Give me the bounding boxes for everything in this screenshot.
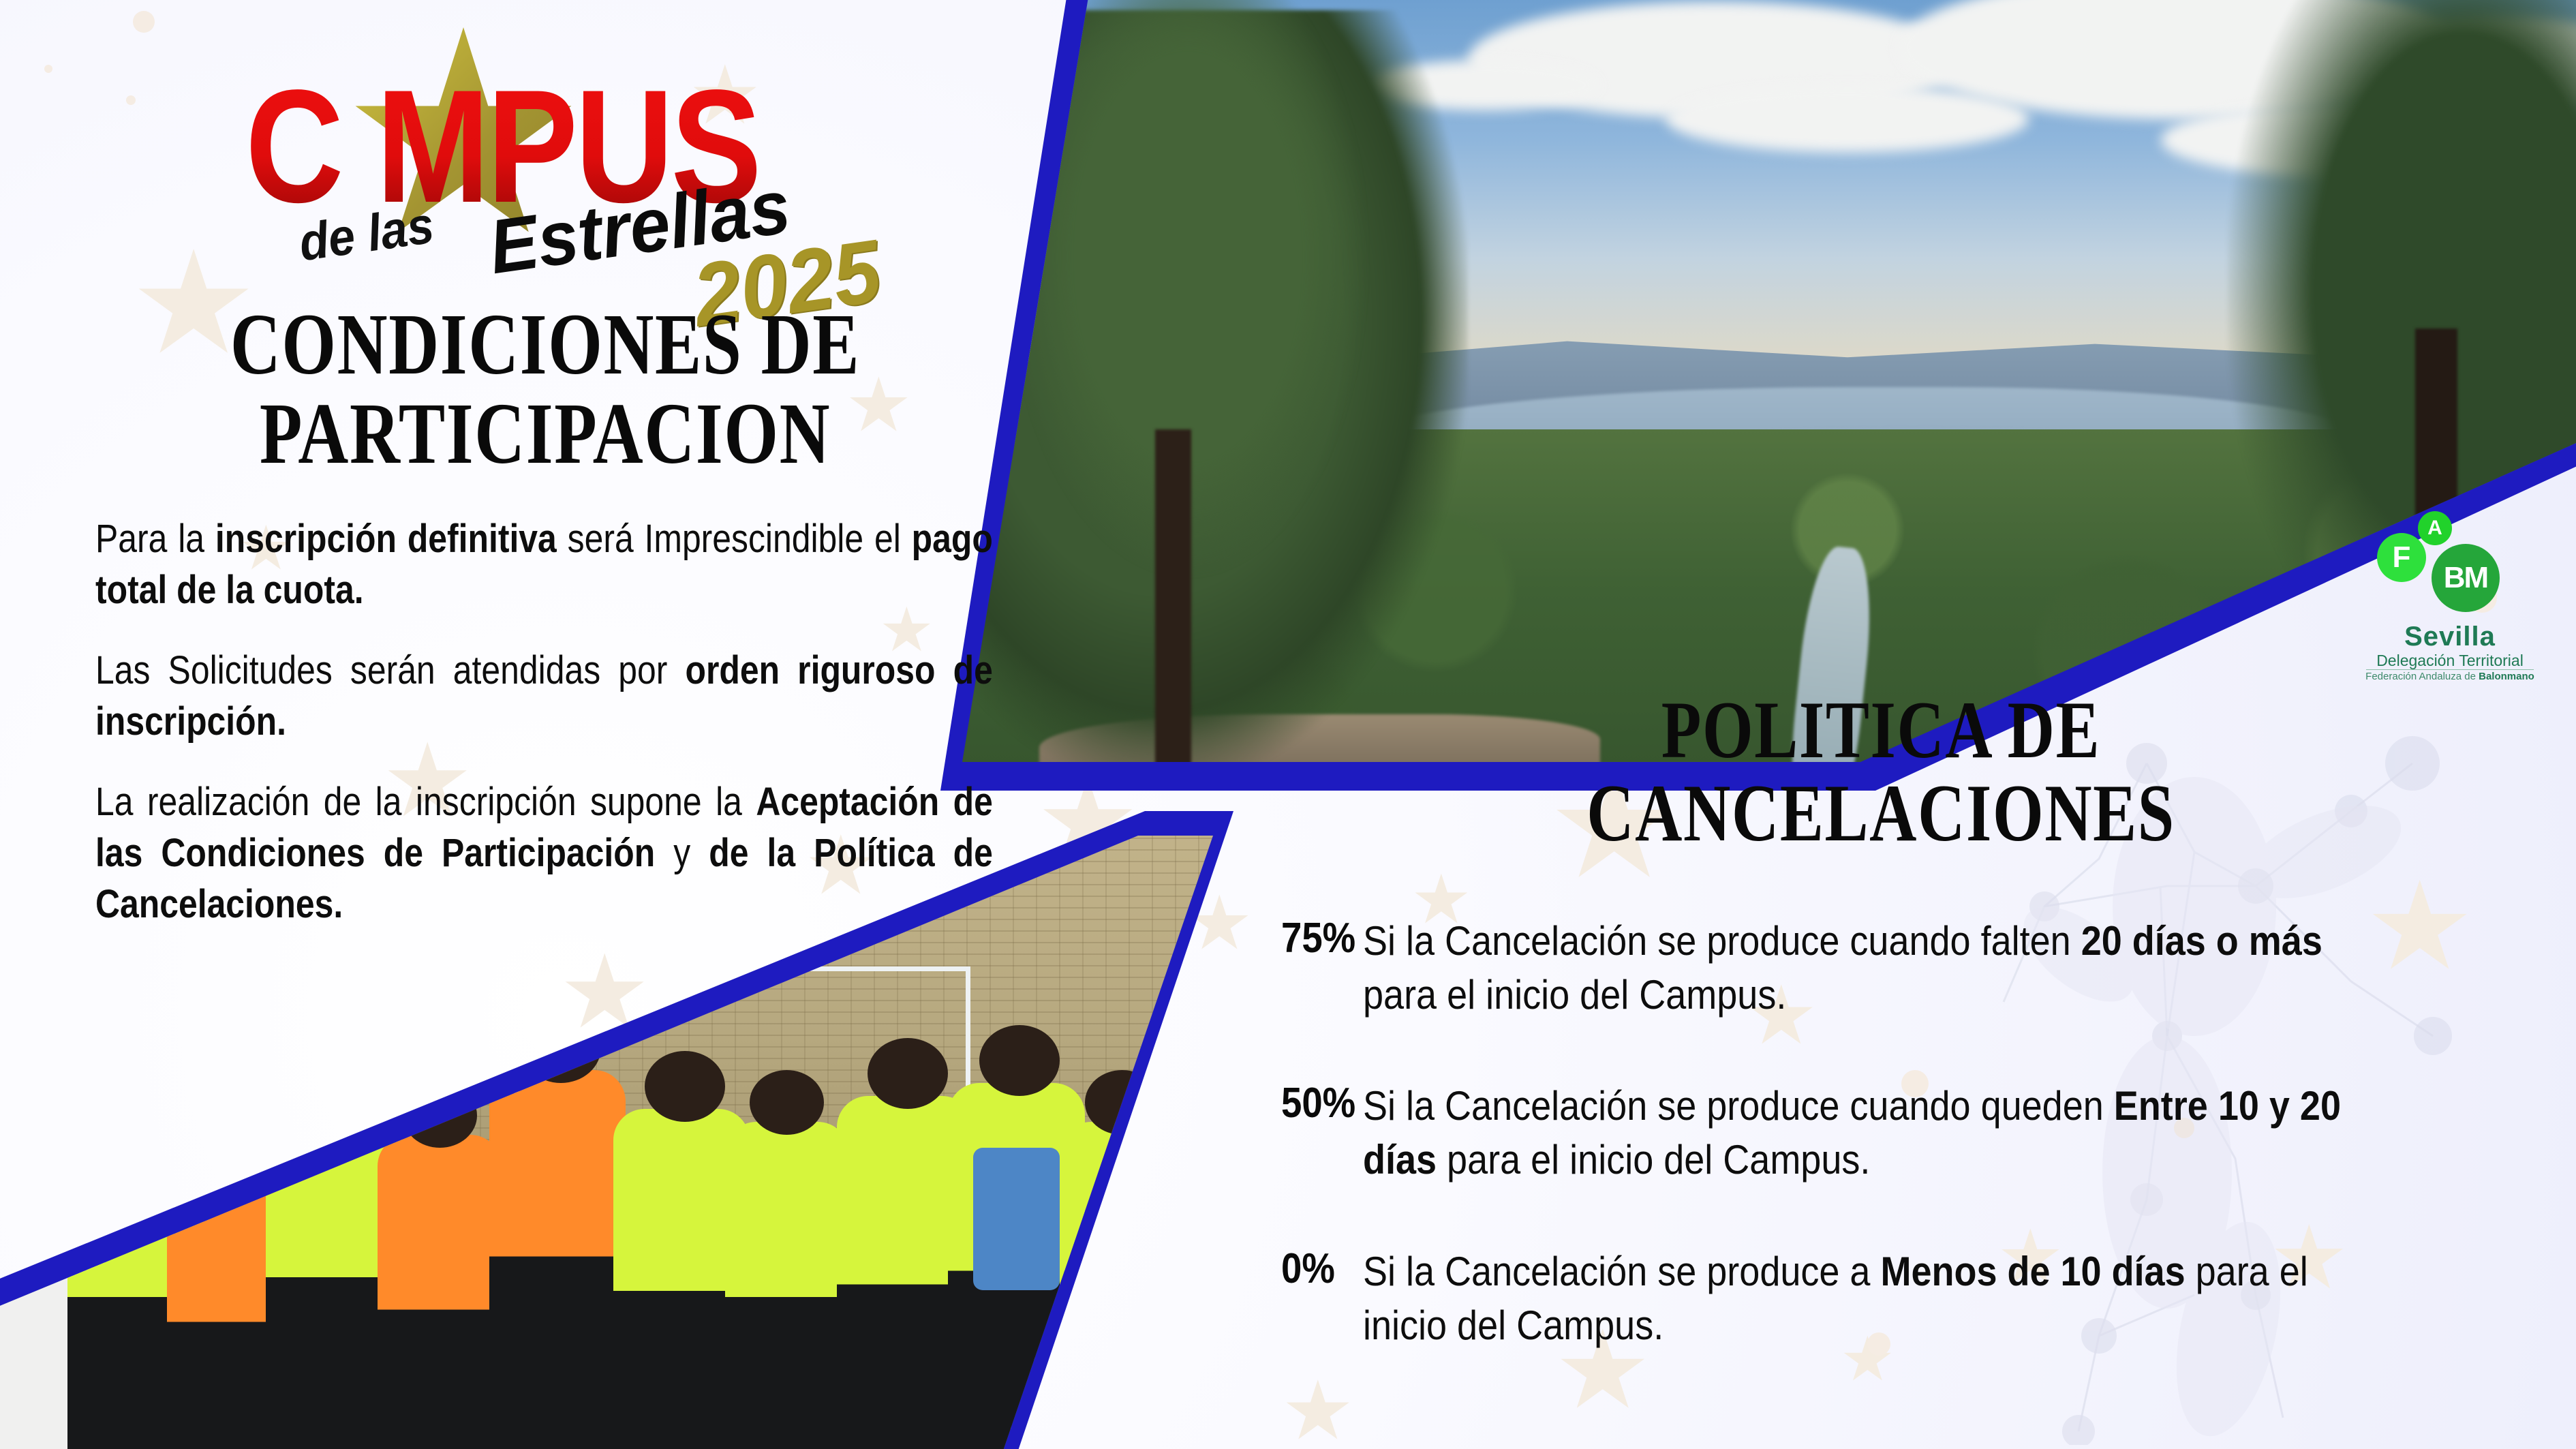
plain-text: Para la [95, 517, 215, 561]
policy-percent: 0% [1281, 1245, 1353, 1293]
conditions-paragraph: Las Solicitudes serán atendidas por orde… [95, 645, 993, 748]
emphasis-text: 20 días o más [2081, 918, 2322, 964]
plain-text: Las Solicitudes serán atendidas por [95, 648, 685, 692]
fabm-circle-bm: BM [2432, 544, 2500, 612]
player-head [645, 1051, 725, 1123]
fabm-divider [2366, 669, 2534, 670]
player [725, 1122, 849, 1449]
fabm-circle-f: F [2377, 533, 2426, 582]
player-head [750, 1070, 824, 1135]
cancellation-title-line2: CANCELACIONES [1586, 767, 2175, 858]
player-head [979, 1025, 1060, 1097]
plain-text: para el inicio del Campus. [1437, 1137, 1870, 1183]
plain-text: será Imprescindible el [557, 517, 912, 561]
dot-decor [126, 95, 136, 105]
policy-percent: 50% [1281, 1079, 1353, 1127]
fabm-federation-bold: Balonmano [2479, 671, 2534, 682]
plain-text: Si la Cancelación se produce cuando falt… [1363, 918, 2081, 964]
conditions-paragraphs: Para la inscripción definitiva será Impr… [95, 513, 995, 930]
plain-text: La realización de la inscripción supone … [95, 780, 756, 824]
policy-item: 75%Si la Cancelación se produce cuando f… [1281, 914, 2481, 1022]
cloud [1666, 85, 2029, 152]
plain-text: para el inicio del Campus. [1363, 972, 1786, 1018]
cancellation-title: POLITICA DE CANCELACIONES [1401, 688, 2361, 855]
plain-text: Si la Cancelación se produce a [1363, 1249, 1880, 1294]
cancellation-title-line1: POLITICA DE [1661, 684, 2100, 775]
policy-item: 0%Si la Cancelación se produce a Menos d… [1281, 1245, 2481, 1352]
conditions-title-line2: PARTICIPACION [260, 385, 831, 482]
conditions-title: CONDICIONES DE PARTICIPACION [185, 300, 905, 478]
fabm-federation-prefix: Federación Andaluza de [2365, 671, 2479, 682]
fabm-circle-a: A [2418, 511, 2452, 545]
policy-percent: 75% [1281, 914, 1353, 962]
plain-text: y [655, 831, 709, 875]
policy-description: Si la Cancelación se produce cuando falt… [1363, 914, 2369, 1022]
tree-trunk-left [1155, 429, 1191, 815]
policy-description: Si la Cancelación se produce a Menos de … [1363, 1245, 2369, 1352]
dot-decor [44, 65, 52, 73]
fabm-sevilla-logo: F A BM Sevilla Delegación Territorial Fe… [2337, 504, 2562, 685]
dot-decor [133, 11, 155, 33]
fabm-federation: Federación Andaluza de Balonmano [2337, 671, 2562, 682]
fabm-delegation: Delegación Territorial [2337, 652, 2562, 670]
emphasis-text: inscripción definitiva [215, 517, 557, 561]
conditions-section: CONDICIONES DE PARTICIPACION Para la ins… [95, 300, 995, 959]
player-head [868, 1038, 948, 1110]
poster-canvas: ★ ★ ★ ★ ★ ★ ★ ★ ★ ★ ★ ★ ★ ★ ★ ★ ★ ★ ★ ★ [0, 0, 2576, 1449]
campus-logo: C MPUS de las Estrellas 2025 [239, 34, 825, 259]
cancellation-section: POLITICA DE CANCELACIONES 75%Si la Cance… [1281, 688, 2481, 1409]
fabm-city: Sevilla [2337, 622, 2562, 652]
policy-item: 50%Si la Cancelación se produce cuando q… [1281, 1079, 2481, 1187]
plain-text: Si la Cancelación se produce cuando qued… [1363, 1083, 2114, 1129]
conditions-title-line1: CONDICIONES DE [230, 296, 860, 393]
player [378, 1135, 502, 1449]
backpack [973, 1148, 1060, 1290]
conditions-paragraph: Para la inscripción definitiva será Impr… [95, 513, 993, 616]
conditions-paragraph: La realización de la inscripción supone … [95, 776, 993, 930]
player [489, 1070, 626, 1449]
emphasis-text: Menos de 10 días [1880, 1249, 2185, 1294]
policy-list: 75%Si la Cancelación se produce cuando f… [1281, 914, 2481, 1352]
policy-description: Si la Cancelación se produce cuando qued… [1363, 1079, 2369, 1187]
